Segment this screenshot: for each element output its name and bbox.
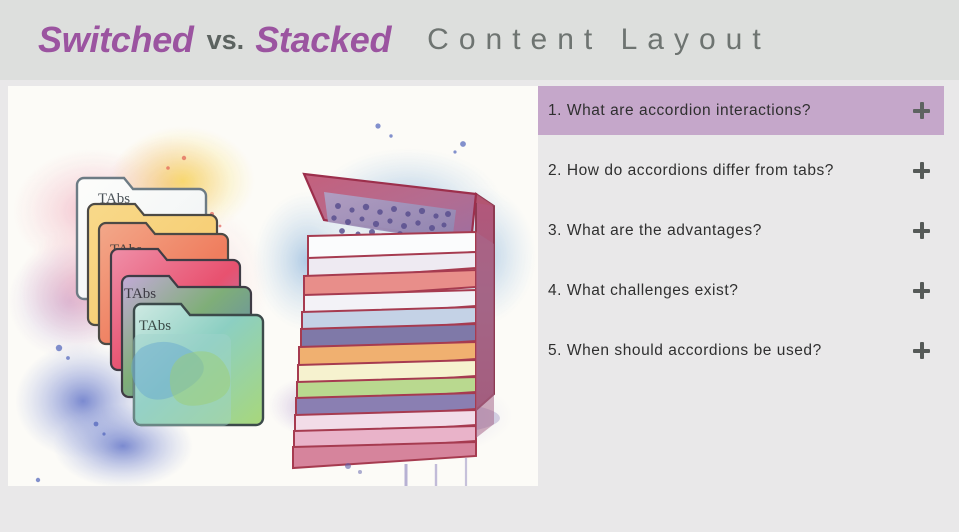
title-word-stacked: Stacked xyxy=(255,19,391,61)
plus-icon[interactable] xyxy=(913,102,930,119)
accordion-item-5[interactable]: 5. When should accordions be used? xyxy=(538,326,944,375)
title-word-switched: Switched xyxy=(38,19,194,61)
watercolor-illustration: TAbs TAbs TAbs TAbs xyxy=(8,86,538,486)
title-word-vs: vs. xyxy=(207,25,245,56)
accordion-item-3-label: 3. What are the advantages? xyxy=(548,222,762,240)
slide-root: Switched vs. Stacked Content Layout xyxy=(0,0,959,532)
slide-header: Switched vs. Stacked Content Layout xyxy=(0,0,959,80)
plus-icon[interactable] xyxy=(913,162,930,179)
accordion-item-5-label: 5. When should accordions be used? xyxy=(548,342,822,360)
accordion-item-1-label: 1. What are accordion interactions? xyxy=(548,102,811,120)
illustration-panel: TAbs TAbs TAbs TAbs xyxy=(8,86,538,486)
accordion-item-2[interactable]: 2. How do accordions differ from tabs? xyxy=(538,146,944,195)
accordion-item-4[interactable]: 4. What challenges exist? xyxy=(538,266,944,315)
stacked-papers-icon xyxy=(293,174,500,486)
svg-text:TAbs: TAbs xyxy=(139,318,171,334)
accordion-item-4-label: 4. What challenges exist? xyxy=(548,282,738,300)
accordion-item-1[interactable]: 1. What are accordion interactions? xyxy=(538,86,944,135)
accordion-item-2-label: 2. How do accordions differ from tabs? xyxy=(548,162,834,180)
accordion-item-3[interactable]: 3. What are the advantages? xyxy=(538,206,944,255)
plus-icon[interactable] xyxy=(913,282,930,299)
svg-text:TAbs: TAbs xyxy=(124,286,156,302)
accordion-list: 1. What are accordion interactions? 2. H… xyxy=(538,86,959,486)
plus-icon[interactable] xyxy=(913,222,930,239)
page-title: Content Layout xyxy=(427,23,770,57)
plus-icon[interactable] xyxy=(913,342,930,359)
